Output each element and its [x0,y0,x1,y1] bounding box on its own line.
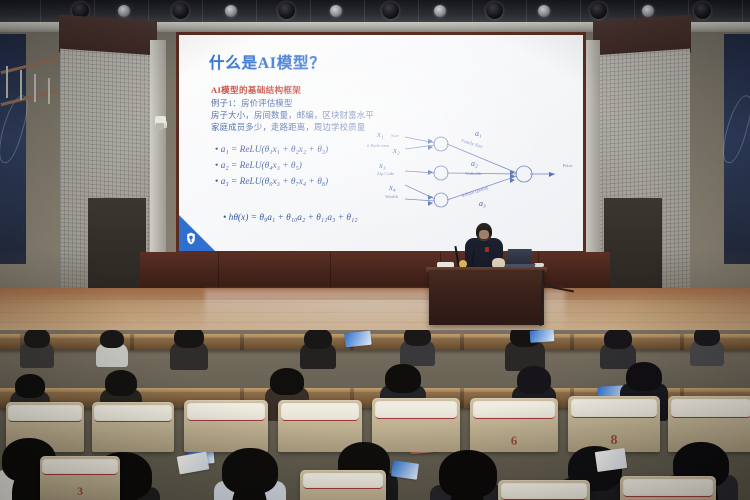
railing-post [48,78,50,104]
audience-member-head [24,330,50,348]
ceiling-spotlight [486,2,503,19]
ceiling-spotlight [538,5,550,17]
ceiling-seam [526,0,527,26]
audience-area: 68316 [0,330,750,500]
audience-member [96,330,128,372]
projection-screen-frame: 什么是AI模型？ AI模型的基础结构框架 例子1：房价评估模型 房子大小，房间数… [176,32,586,254]
slide-corner-accent [179,215,215,251]
glass-reflection-right [718,93,750,166]
nn-hidden-feature: Walkable [465,171,482,176]
seat-headrest-cover [303,473,384,489]
slide-title: 什么是AI模型？ [209,51,326,73]
nn-input-feature: # Bedrooms [367,143,389,148]
window-right [724,34,750,264]
side-doorway-left [88,198,146,294]
slide-final-equation: • hθ(x) = θ₉a₁ + θ₁₀a₂ + θ₁₁a₃ + θ₁₂ [223,213,357,223]
railing-post [20,70,22,100]
equation-text: a₃ = ReLU(θ₆x₃ + θ₇x₄ + θ₈) [221,177,329,187]
audience-seat[interactable]: 1 [498,480,590,500]
seat-number: 6 [470,433,558,449]
nn-input-var: x₃ [379,160,386,170]
bullet-glyph: • [223,213,226,223]
wainscot-seam [330,252,331,290]
audience-member [170,330,208,376]
audience-member-head [626,362,662,391]
audience-member-head [174,330,204,348]
ceiling-spotlight [434,5,446,17]
floor-plank [0,312,750,313]
equation-text: hθ(x) = θ₉a₁ + θ₁₀a₂ + θ₁₁a₃ + θ₁₂ [229,213,358,223]
bullet-glyph: • [215,145,218,155]
nn-hidden-var: a₃ [479,199,486,208]
nn-input-var: x₁ [377,129,384,139]
presenter-face [479,230,489,239]
ceiling-seam [310,0,311,26]
audience-member-head [385,364,421,393]
presenter-laptop [505,249,533,267]
audience-member-head [517,366,551,394]
projection-screen: 什么是AI模型？ AI模型的基础结构框架 例子1：房价评估模型 房子大小，房间数… [179,35,583,251]
ceiling-spotlight [118,5,130,17]
seat-headrest-cover [42,459,117,475]
laptop-screen [506,249,532,264]
podium [429,270,544,325]
nn-hidden-var: a₂ [471,159,478,168]
ceiling-seam [364,0,365,26]
audience-member-head [604,330,632,349]
slide-body-line: 例子1：房价评估模型 [211,97,293,109]
nn-input-var: x₄ [389,182,396,192]
seat-number: 3 [40,484,120,499]
seat-headrest-cover [187,403,266,421]
slide-body-line: 房子大小，房间数量，邮编，区块财富水平 [211,109,374,121]
presenter-badge [485,247,489,252]
desk-seam [460,388,464,408]
ceiling-seam [202,0,203,26]
ceiling-seam [40,0,41,26]
desk-seam [680,334,684,350]
nn-output-feature: Price [563,163,572,168]
floor-plank [0,292,750,293]
audience-member-head [304,330,332,349]
ceiling-spotlight [590,2,607,19]
railing-bar-top [1,57,60,74]
railing-post [34,74,36,102]
audience-seat[interactable] [300,470,386,500]
railing-bar-bottom [1,89,60,106]
ceiling-spotlight [172,2,189,19]
ceiling-spotlight [382,2,399,19]
slide-equation: • a₂ = ReLU(θ₄x₃ + θ₅) [215,161,302,171]
audience-member-head [105,370,137,396]
bullet-glyph: • [215,161,218,171]
audience-member-head [404,330,431,346]
stair-railing [0,60,62,120]
audience-member [214,448,286,500]
desk-seam [240,334,244,350]
audience-member-head [100,330,124,348]
equation-text: a₂ = ReLU(θ₄x₃ + θ₅) [221,161,302,171]
ceiling-spotlight [694,2,711,19]
ceiling-spotlight [642,5,654,17]
lecture-hall-photo: 什么是AI模型？ AI模型的基础结构框架 例子1：房价评估模型 房子大小，房间数… [0,0,750,500]
seat-headrest-cover [375,401,458,419]
neural-network-diagram: x₁ Size # Bedrooms x₂ x₃ Zip Code x₄ Wea… [375,127,583,219]
wainscot-seam [218,252,219,290]
railing-post [6,66,8,98]
desk-seam [570,334,574,350]
floor-plank [0,302,750,303]
audience-booklet [177,452,210,475]
audience-seat[interactable] [92,402,174,452]
seat-headrest-cover [281,403,360,421]
bullet-glyph: • [215,177,218,187]
audience-seat[interactable] [184,400,268,452]
audience-member [20,330,54,374]
nn-input-feature: Size [391,133,399,138]
audience-seat[interactable]: 6 [620,476,716,500]
audience-member-head [270,368,304,395]
seat-headrest-cover [671,399,750,418]
slide-equation: • a₁ = ReLU(θ₁x₁ + θ₂x₂ + θ₃) [215,145,328,155]
equation-text: a₁ = ReLU(θ₁x₁ + θ₂x₂ + θ₃) [221,145,329,155]
slide-subtitle: AI模型的基础结构框架 [211,84,301,96]
audience-booklet [391,460,419,479]
nn-input-feature: Zip Code [377,171,394,176]
nn-input-feature: Wealth [385,194,398,199]
nn-input-var: x₂ [393,145,400,155]
audience-member [430,450,506,500]
ceiling-seam [580,0,581,26]
ceiling-spotlight [225,5,237,17]
audience-seat[interactable]: 3 [40,456,120,500]
nn-hidden-var: a₁ [475,129,482,138]
ceiling-seam [472,0,473,26]
seat-headrest-cover [571,399,657,418]
audience-booklet [595,448,627,472]
seat-headrest-cover [94,405,171,422]
floor-plank [0,322,750,323]
seat-headrest-cover [473,401,556,419]
audience-member [690,330,724,372]
seat-headrest-cover [8,405,81,422]
ceiling-spotlight [278,2,295,19]
audience-seat[interactable]: 6 [470,398,558,452]
slide-equation: • a₃ = ReLU(θ₆x₃ + θ₇x₄ + θ₈) [215,177,328,187]
seat-headrest-cover [501,483,587,500]
seat-headrest-cover [623,479,713,497]
desk-seam [460,334,464,350]
slide-body-line: 家庭成员多少，走路距离，周边学校质量 [211,121,365,133]
ceiling-seam [742,0,743,26]
desk-seam [130,334,134,350]
ceiling-seam [256,0,257,26]
audience-seat[interactable]: 8 [568,396,660,452]
security-camera-icon [155,116,166,125]
audience-member-head [15,374,45,398]
ceiling-spotlight [330,5,342,17]
audience-member-head [694,330,720,346]
side-doorway-right [604,198,662,294]
university-crest-icon [186,232,196,245]
audience-booklet [530,330,555,343]
audience-booklet [344,331,371,348]
ceiling-seam [418,0,419,26]
